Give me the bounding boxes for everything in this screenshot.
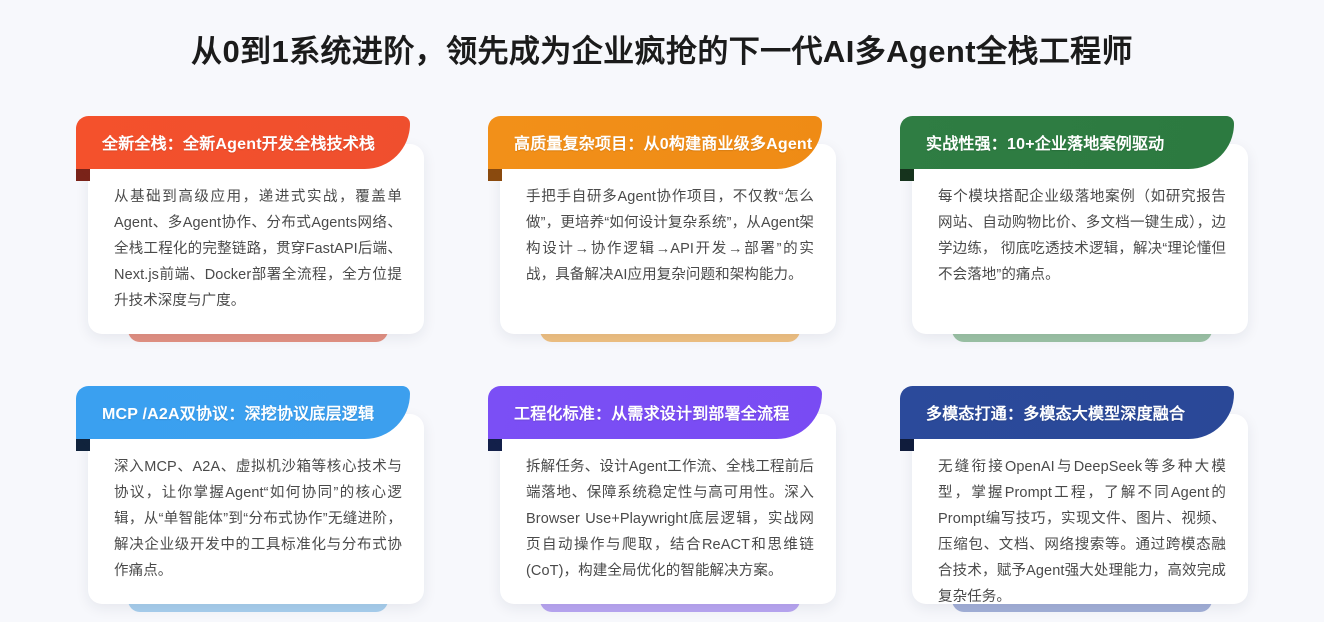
card-body: 拆解任务、设计Agent工作流、全栈工程前后端落地、保障系统稳定性与高可用性。深…	[500, 414, 836, 604]
feature-card-6[interactable]: 无缝衔接OpenAI与DeepSeek等多种大模型，掌握Prompt工程，了解不…	[900, 386, 1248, 604]
feature-card-grid: 从基础到高级应用，递进式实战，覆盖单Agent、多Agent协作、分布式Agen…	[76, 116, 1248, 622]
feature-card-3[interactable]: 每个模块搭配企业级落地案例（如研究报告网站、自动购物比价、多文档一键生成），边学…	[900, 116, 1248, 334]
card-description-5: 拆解任务、设计Agent工作流、全栈工程前后端落地、保障系统稳定性与高可用性。深…	[526, 454, 814, 584]
feature-card-2[interactable]: 手把手自研多Agent协作项目，不仅教“怎么做”，更培养“如何设计复杂系统”，从…	[488, 116, 836, 334]
feature-cards-page: 从0到1系统进阶，领先成为企业疯抢的下一代AI多Agent全栈工程师 从基础到高…	[0, 0, 1324, 622]
card-body: 每个模块搭配企业级落地案例（如研究报告网站、自动购物比价、多文档一键生成），边学…	[912, 144, 1248, 334]
card-title-4: MCP /A2A双协议：深挖协议底层逻辑	[76, 400, 404, 426]
card-title-6: 多模态打通：多模态大模型深度融合	[900, 400, 1215, 426]
page-title: 从0到1系统进阶，领先成为企业疯抢的下一代AI多Agent全栈工程师	[0, 26, 1324, 71]
card-description-4: 深入MCP、A2A、虚拟机沙箱等核心技术与协议，让你掌握Agent“如何协同”的…	[114, 454, 402, 584]
card-title-1: 全新全栈：全新Agent开发全栈技术栈	[76, 130, 405, 156]
card-body: 从基础到高级应用，递进式实战，覆盖单Agent、多Agent协作、分布式Agen…	[88, 144, 424, 334]
card-body: 无缝衔接OpenAI与DeepSeek等多种大模型，掌握Prompt工程，了解不…	[912, 414, 1248, 604]
feature-card-1[interactable]: 从基础到高级应用，递进式实战，覆盖单Agent、多Agent协作、分布式Agen…	[76, 116, 424, 334]
card-description-2: 手把手自研多Agent协作项目，不仅教“怎么做”，更培养“如何设计复杂系统”，从…	[526, 184, 814, 288]
card-body: 手把手自研多Agent协作项目，不仅教“怎么做”，更培养“如何设计复杂系统”，从…	[500, 144, 836, 334]
card-ribbon-1: 全新全栈：全新Agent开发全栈技术栈	[76, 116, 410, 169]
card-ribbon-5: 工程化标准：从需求设计到部署全流程	[488, 386, 822, 439]
card-ribbon-3: 实战性强：10+企业落地案例驱动	[900, 116, 1234, 169]
feature-card-4[interactable]: 深入MCP、A2A、虚拟机沙箱等核心技术与协议，让你掌握Agent“如何协同”的…	[76, 386, 424, 604]
card-ribbon-2: 高质量复杂项目：从0构建商业级多Agent	[488, 116, 822, 169]
card-description-1: 从基础到高级应用，递进式实战，覆盖单Agent、多Agent协作、分布式Agen…	[114, 184, 402, 314]
card-title-5: 工程化标准：从需求设计到部署全流程	[488, 400, 819, 426]
card-title-3: 实战性强：10+企业落地案例驱动	[900, 130, 1194, 156]
card-body: 深入MCP、A2A、虚拟机沙箱等核心技术与协议，让你掌握Agent“如何协同”的…	[88, 414, 424, 604]
card-ribbon-4: MCP /A2A双协议：深挖协议底层逻辑	[76, 386, 410, 439]
card-description-3: 每个模块搭配企业级落地案例（如研究报告网站、自动购物比价、多文档一键生成），边学…	[938, 184, 1226, 288]
card-title-2: 高质量复杂项目：从0构建商业级多Agent	[488, 130, 822, 156]
card-ribbon-6: 多模态打通：多模态大模型深度融合	[900, 386, 1234, 439]
feature-card-5[interactable]: 拆解任务、设计Agent工作流、全栈工程前后端落地、保障系统稳定性与高可用性。深…	[488, 386, 836, 604]
card-description-6: 无缝衔接OpenAI与DeepSeek等多种大模型，掌握Prompt工程，了解不…	[938, 454, 1226, 610]
